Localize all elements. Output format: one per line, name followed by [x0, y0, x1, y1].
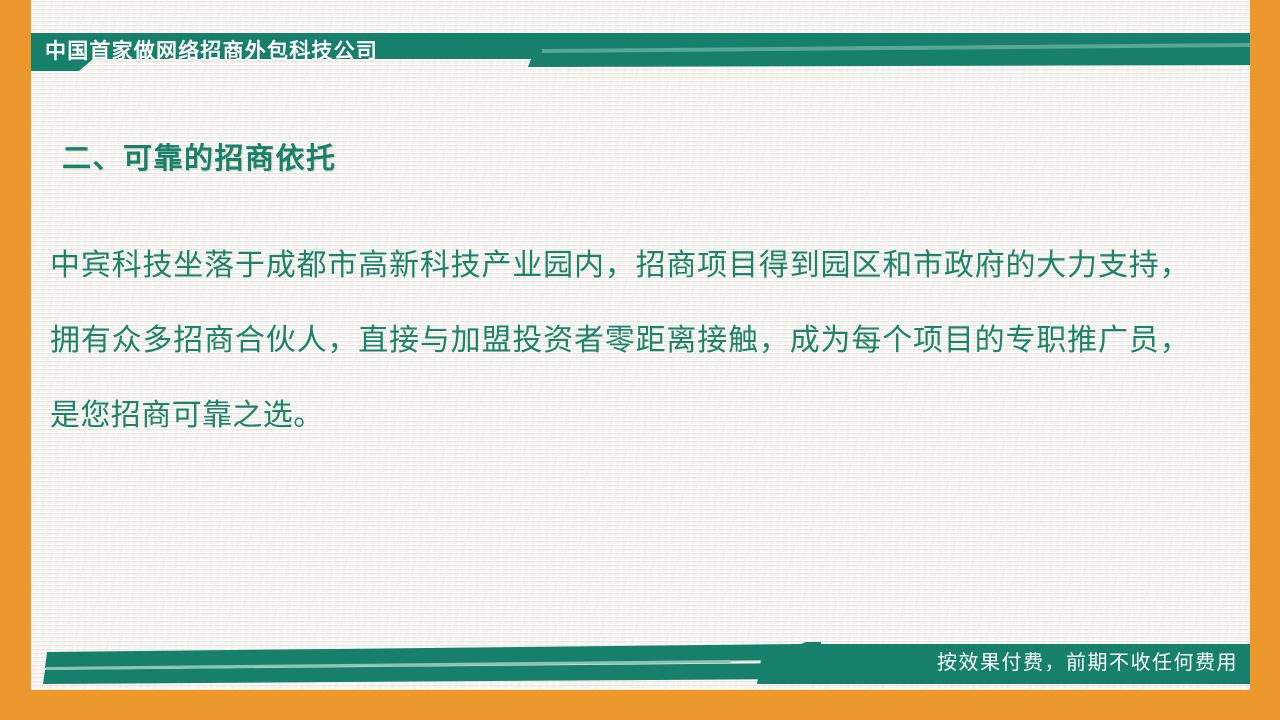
presentation-slide: 中国首家做网络招商外包科技公司 二、可靠的招商依托 中宾科技坐落于成都市高新科技…: [0, 0, 1280, 720]
footer-tagline: 按效果付费，前期不收任何费用: [937, 648, 1238, 678]
body-paragraph: 中宾科技坐落于成都市高新科技产业园内，招商项目得到园区和市政府的大力支持，拥有众…: [50, 228, 1190, 453]
section-heading: 二、可靠的招商依托: [62, 135, 337, 177]
header-title: 中国首家做网络招商外包科技公司: [45, 34, 378, 70]
